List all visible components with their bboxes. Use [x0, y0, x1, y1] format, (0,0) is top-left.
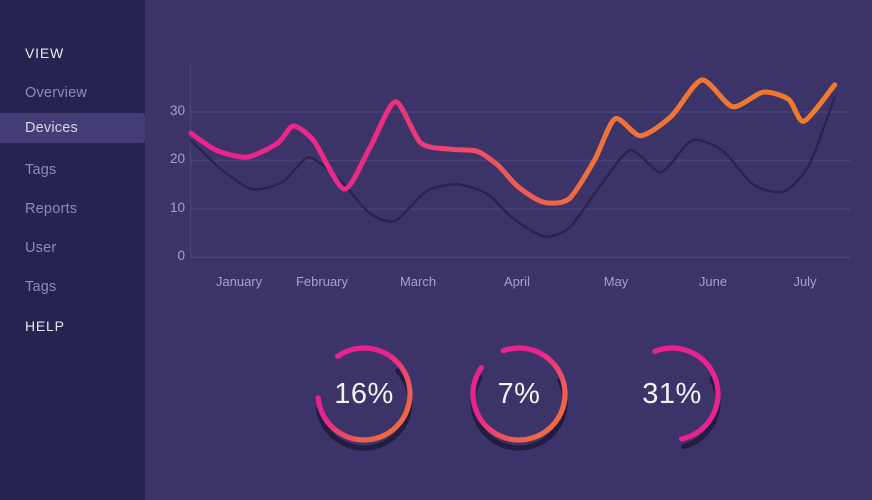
sidebar-item-label: VIEW: [25, 45, 64, 61]
y-tick-label: 0: [145, 248, 185, 263]
line-chart-panel: 0102030 JanuaryFebruaryMarchAprilMayJune…: [145, 0, 872, 310]
sidebar-item-label: Reports: [25, 201, 77, 217]
chart-series-primary: [191, 80, 835, 203]
donut-value-label: 16%: [302, 332, 426, 456]
x-tick-label-may: May: [571, 274, 661, 289]
x-tick-label-july: July: [760, 274, 850, 289]
x-tick-label-april: April: [472, 274, 562, 289]
donut-gauge-metric-3[interactable]: 31%: [610, 332, 734, 456]
sidebar-item-user[interactable]: User: [0, 233, 145, 263]
y-tick-label: 30: [145, 103, 185, 118]
sidebar-item-reports[interactable]: Reports: [0, 194, 145, 224]
sidebar-item-tags[interactable]: Tags: [0, 155, 145, 185]
x-tick-label-january: January: [194, 274, 284, 289]
donut-gauge-metric-1[interactable]: 16%: [302, 332, 426, 456]
donut-gauges: 16%7%31%: [145, 310, 872, 500]
x-tick-label-march: March: [373, 274, 463, 289]
sidebar-item-label: Tags: [25, 279, 56, 295]
dashboard-root: VIEWOverviewDevicesTagsReportsUserTagsHE…: [0, 0, 872, 500]
chart-gridlines: [191, 112, 850, 258]
sidebar-item-label: User: [25, 240, 56, 256]
sidebar-item-overview[interactable]: Overview: [0, 78, 145, 108]
donut-value-label: 7%: [457, 332, 581, 456]
sidebar-item-label: Tags: [25, 162, 56, 178]
sidebar-item-devices[interactable]: Devices: [0, 113, 145, 143]
sidebar-item-view: VIEW: [0, 38, 145, 68]
sidebar-item-tags-2[interactable]: Tags: [0, 272, 145, 302]
chart-series-secondary: [191, 97, 835, 236]
x-tick-label-june: June: [668, 274, 758, 289]
y-tick-label: 20: [145, 151, 185, 166]
sidebar-item-label: Overview: [25, 85, 87, 101]
sidebar: VIEWOverviewDevicesTagsReportsUserTagsHE…: [0, 0, 145, 500]
line-chart-svg: [145, 0, 872, 310]
sidebar-item-label: Devices: [25, 120, 78, 136]
x-tick-label-february: February: [277, 274, 367, 289]
sidebar-item-label: HELP: [25, 318, 65, 334]
y-tick-label: 10: [145, 200, 185, 215]
donut-gauge-metric-2[interactable]: 7%: [457, 332, 581, 456]
donut-value-label: 31%: [610, 332, 734, 456]
sidebar-item-help: HELP: [0, 311, 145, 341]
